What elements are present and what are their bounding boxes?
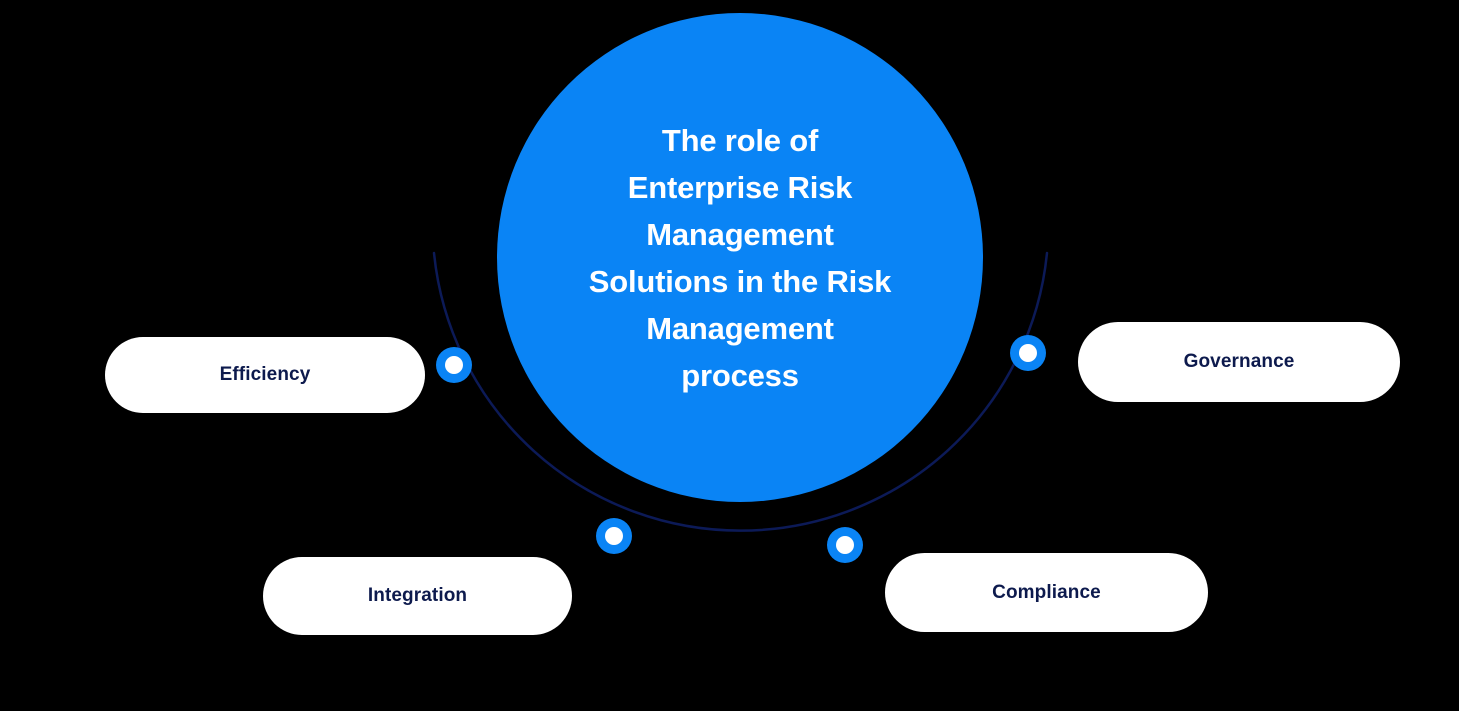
node-pill-efficiency[interactable]: Efficiency [105, 337, 425, 413]
node-pill-compliance[interactable]: Compliance [885, 553, 1208, 632]
node-label-compliance: Compliance [992, 582, 1101, 604]
node-pill-governance[interactable]: Governance [1078, 322, 1400, 402]
node-dot-efficiency[interactable] [436, 347, 472, 383]
node-dot-icon [605, 527, 623, 545]
node-dot-icon [445, 356, 463, 374]
node-label-efficiency: Efficiency [220, 364, 311, 386]
diagram-canvas: The role of Enterprise Risk Management S… [0, 0, 1459, 711]
node-dot-icon [836, 536, 854, 554]
node-label-governance: Governance [1184, 351, 1295, 373]
node-dot-governance[interactable] [1010, 335, 1046, 371]
node-dot-compliance[interactable] [827, 527, 863, 563]
node-label-integration: Integration [368, 585, 467, 607]
node-dot-integration[interactable] [596, 518, 632, 554]
node-pill-integration[interactable]: Integration [263, 557, 572, 635]
node-dot-icon [1019, 344, 1037, 362]
hub-title: The role of Enterprise Risk Management S… [589, 117, 891, 399]
hub-circle: The role of Enterprise Risk Management S… [497, 13, 983, 502]
